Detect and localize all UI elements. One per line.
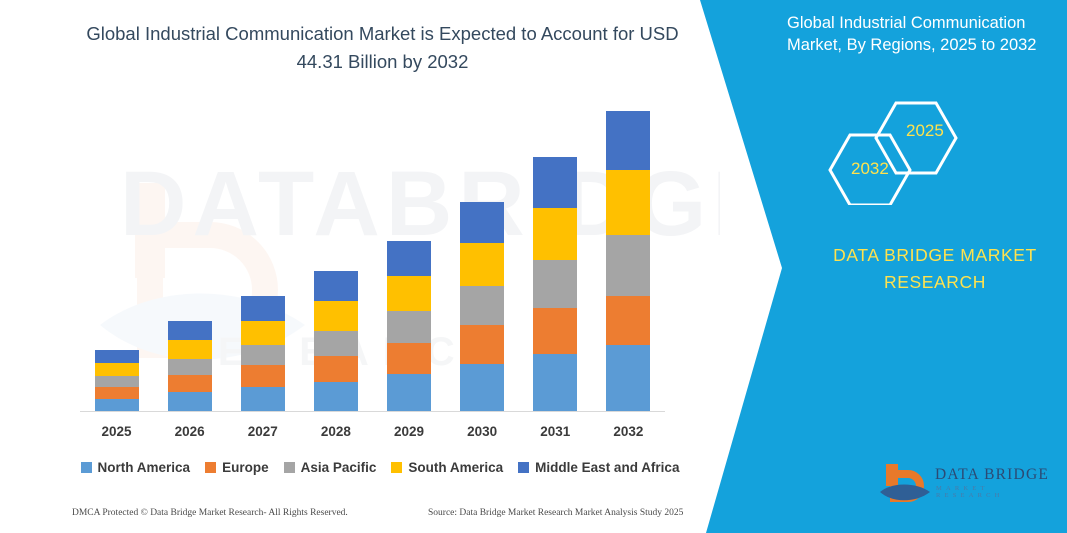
hexagon-icons (828, 95, 973, 205)
brand-line-2: RESEARCH (800, 269, 1067, 296)
x-label-2029: 2029 (379, 424, 439, 439)
bar-segment-2027-south-america (241, 321, 285, 345)
infographic-root: DATABRIDGE RESEARCH Global Industrial Co… (0, 0, 1067, 533)
bar-segment-2025-europe (95, 387, 139, 399)
x-label-2028: 2028 (306, 424, 366, 439)
brand-text: DATA BRIDGE MARKET RESEARCH (800, 242, 1067, 296)
bar-2028 (314, 271, 358, 412)
bar-segment-2031-asia-pacific (533, 260, 577, 308)
bar-segment-2025-asia-pacific (95, 376, 139, 387)
bar-segment-2028-asia-pacific (314, 331, 358, 356)
bar-chart-plot (80, 100, 665, 412)
hexagon-group: 2025 2032 (828, 95, 973, 205)
bar-segment-2028-north-america (314, 382, 358, 412)
bar-segment-2027-europe (241, 365, 285, 387)
bar-2030 (460, 202, 504, 412)
footer-copyright: DMCA Protected © Data Bridge Market Rese… (72, 508, 348, 518)
bar-segment-2030-middle-east-and-africa (460, 202, 504, 243)
legend-label: Asia Pacific (301, 460, 377, 475)
bar-segment-2028-middle-east-and-africa (314, 271, 358, 301)
legend-item-north-america[interactable]: North America (81, 460, 191, 475)
bar-segment-2030-north-america (460, 364, 504, 412)
bar-segment-2029-asia-pacific (387, 311, 431, 342)
bar-segment-2032-middle-east-and-africa (606, 111, 650, 170)
legend-swatch-icon (284, 462, 295, 473)
bar-segment-2032-europe (606, 296, 650, 345)
bar-segment-2026-middle-east-and-africa (168, 321, 212, 340)
logo-tagline: MARKET RESEARCH (936, 485, 1060, 499)
panel-title: Global Industrial Communication Market, … (787, 12, 1059, 56)
bar-segment-2031-south-america (533, 208, 577, 260)
legend-item-europe[interactable]: Europe (205, 460, 269, 475)
legend-label: North America (98, 460, 191, 475)
legend-swatch-icon (81, 462, 92, 473)
bar-segment-2028-europe (314, 356, 358, 382)
bar-segment-2026-europe (168, 375, 212, 392)
hexagon-label-2032: 2032 (851, 159, 889, 179)
legend-swatch-icon (518, 462, 529, 473)
legend-label: Middle East and Africa (535, 460, 679, 475)
bar-segment-2030-europe (460, 325, 504, 364)
x-label-2032: 2032 (598, 424, 658, 439)
legend-label: Europe (222, 460, 269, 475)
x-label-2027: 2027 (233, 424, 293, 439)
bar-segment-2027-north-america (241, 387, 285, 412)
chart-title: Global Industrial Communication Market i… (75, 20, 690, 76)
bar-segment-2026-asia-pacific (168, 359, 212, 375)
bar-segment-2031-middle-east-and-africa (533, 157, 577, 208)
bar-segment-2025-middle-east-and-africa (95, 350, 139, 363)
brand-line-1: DATA BRIDGE MARKET (800, 242, 1067, 269)
bar-segment-2027-asia-pacific (241, 345, 285, 366)
legend-item-middle-east-and-africa[interactable]: Middle East and Africa (518, 460, 679, 475)
bar-segment-2028-south-america (314, 301, 358, 330)
bar-segment-2030-asia-pacific (460, 286, 504, 325)
legend-swatch-icon (205, 462, 216, 473)
legend-swatch-icon (391, 462, 402, 473)
bar-2029 (387, 241, 431, 412)
bar-2026 (168, 321, 212, 412)
hexagon-label-2025: 2025 (906, 121, 944, 141)
legend-item-asia-pacific[interactable]: Asia Pacific (284, 460, 377, 475)
legend-item-south-america[interactable]: South America (391, 460, 503, 475)
bar-segment-2032-north-america (606, 345, 650, 412)
bar-segment-2032-south-america (606, 170, 650, 235)
bar-segment-2025-south-america (95, 363, 139, 376)
bar-2031 (533, 157, 577, 412)
legend-label: South America (408, 460, 503, 475)
data-bridge-logo: DATA BRIDGE MARKET RESEARCH (880, 462, 1060, 510)
bar-2027 (241, 296, 285, 412)
footer-source: Source: Data Bridge Market Research Mark… (428, 508, 683, 518)
x-label-2030: 2030 (452, 424, 512, 439)
x-axis-labels: 20252026202720282029203020312032 (80, 424, 665, 446)
x-label-2031: 2031 (525, 424, 585, 439)
bar-segment-2029-north-america (387, 374, 431, 412)
x-axis-line (80, 411, 665, 412)
logo-mark-icon (880, 462, 932, 506)
bar-segment-2032-asia-pacific (606, 235, 650, 296)
bar-segment-2029-middle-east-and-africa (387, 241, 431, 277)
bar-segment-2027-middle-east-and-africa (241, 296, 285, 321)
bar-segment-2029-south-america (387, 276, 431, 311)
bar-segment-2026-south-america (168, 340, 212, 358)
x-label-2025: 2025 (87, 424, 147, 439)
bar-segment-2030-south-america (460, 243, 504, 286)
bar-segment-2029-europe (387, 343, 431, 374)
bar-2032 (606, 111, 650, 412)
bar-segment-2026-north-america (168, 392, 212, 412)
bar-segment-2031-north-america (533, 354, 577, 412)
chart-legend: North AmericaEuropeAsia PacificSouth Ame… (80, 456, 680, 478)
x-label-2026: 2026 (160, 424, 220, 439)
logo-name: DATA BRIDGE (935, 466, 1049, 484)
bar-2025 (95, 350, 139, 412)
bar-segment-2031-europe (533, 308, 577, 355)
